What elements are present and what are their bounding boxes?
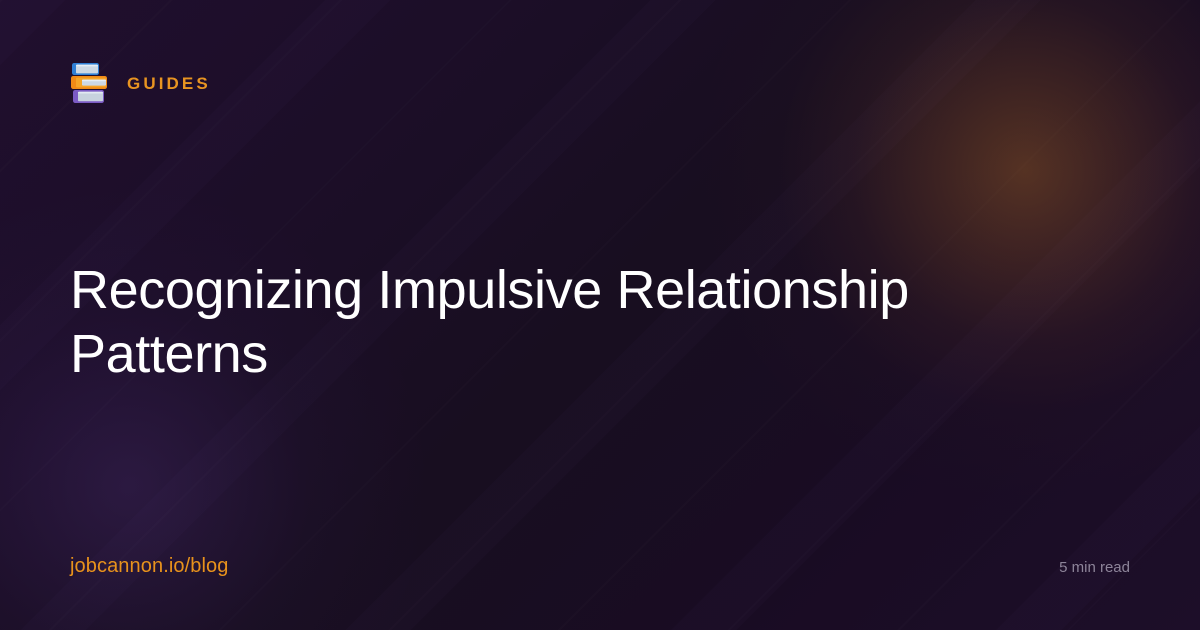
brand-lockup[interactable]: GUIDES bbox=[70, 62, 211, 104]
brand-label: GUIDES bbox=[127, 75, 211, 92]
footer: jobcannon.io/blog 5 min read bbox=[70, 556, 1130, 576]
book-stack-icon bbox=[70, 62, 110, 104]
og-card: GUIDES Recognizing Impulsive Relationshi… bbox=[0, 0, 1200, 630]
page-title: Recognizing Impulsive Relationship Patte… bbox=[70, 258, 1000, 386]
read-time-label: 5 min read bbox=[1059, 560, 1130, 575]
site-url[interactable]: jobcannon.io/blog bbox=[70, 556, 229, 576]
